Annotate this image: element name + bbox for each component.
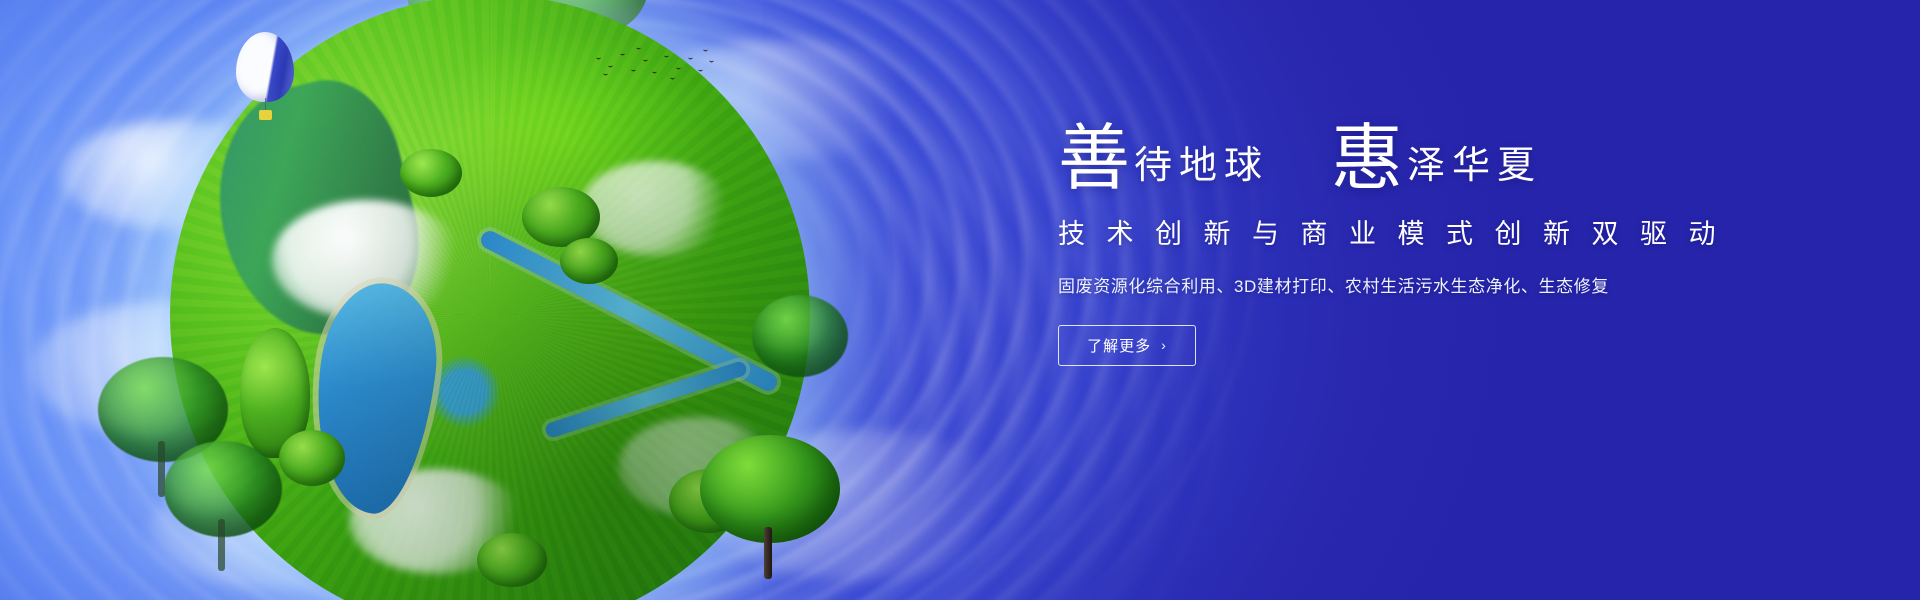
river	[544, 360, 748, 439]
cloud-puff	[60, 120, 300, 230]
balloon-envelope	[236, 32, 294, 102]
cloud-puff	[150, 470, 410, 590]
headline-rest-2: 泽华夏	[1407, 146, 1542, 190]
headline: 善 待地球 惠 泽华夏	[1058, 128, 1818, 190]
rim-tree	[700, 435, 840, 585]
cloud-on-globe	[580, 161, 730, 256]
mountain-range	[194, 65, 439, 354]
headline-lead-char-2: 惠	[1331, 128, 1403, 190]
headline-phrase-1: 善 待地球	[1058, 128, 1269, 190]
cloud-puff	[700, 430, 1020, 580]
hero-banner: 善 待地球 惠 泽华夏 技 术 创 新 与 商 业 模 式 创 新 双 驱 动 …	[0, 0, 1920, 600]
cloud-puff	[30, 300, 330, 440]
rim-tree	[752, 295, 848, 405]
headline-rest-1: 待地球	[1134, 146, 1269, 190]
banner-subtitle: 技 术 创 新 与 商 业 模 式 创 新 双 驱 动	[1058, 212, 1818, 251]
cloud-puff	[640, 40, 920, 160]
headline-phrase-2: 惠 泽华夏	[1331, 128, 1542, 190]
headline-lead-char-1: 善	[1058, 128, 1130, 190]
banner-description: 固废资源化综合利用、3D建材打印、农村生活污水生态净化、生态修复	[1058, 272, 1818, 297]
river	[478, 228, 780, 394]
bush	[240, 328, 310, 458]
learn-more-label: 了解更多	[1087, 335, 1151, 356]
rim-tree	[98, 357, 228, 507]
bush	[477, 533, 547, 587]
bush	[400, 149, 462, 197]
balloon-basket	[259, 110, 272, 120]
hot-air-balloon	[236, 32, 294, 124]
lake	[304, 277, 446, 519]
learn-more-button[interactable]: 了解更多 ›	[1058, 325, 1196, 366]
bush	[279, 430, 345, 486]
cloud-on-globe	[349, 469, 524, 574]
bush	[522, 187, 600, 247]
rim-tree	[164, 441, 282, 581]
cloud-on-globe	[272, 200, 462, 320]
large-tree	[408, 0, 618, 167]
cloud-on-globe	[618, 417, 778, 517]
chevron-right-icon: ›	[1161, 337, 1167, 353]
bush	[669, 469, 749, 533]
banner-content: 善 待地球 惠 泽华夏 技 术 创 新 与 商 业 模 式 创 新 双 驱 动 …	[1058, 128, 1818, 366]
bush	[560, 238, 618, 284]
